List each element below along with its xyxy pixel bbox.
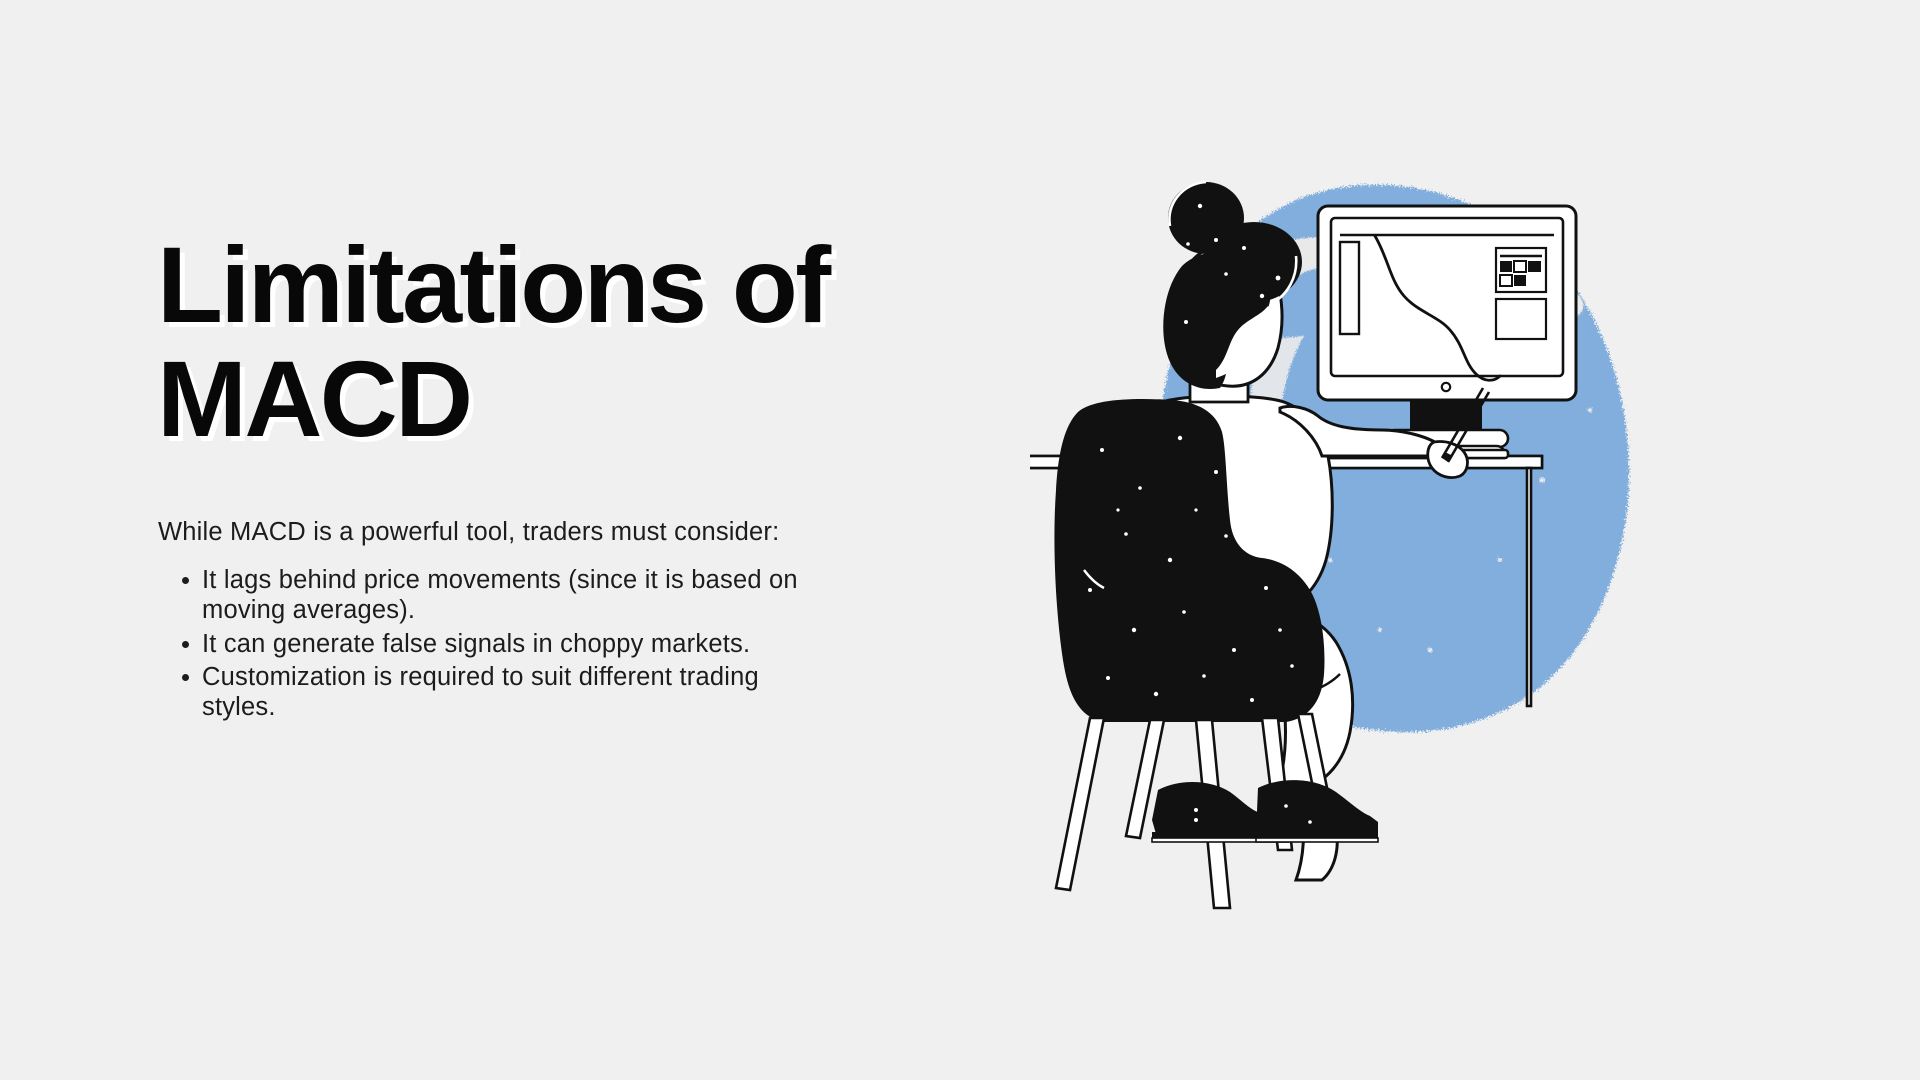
page-title: Limitations of MACD (157, 228, 857, 457)
list-item-label: Customization is required to suit differ… (202, 663, 824, 723)
illustration-svg (1030, 90, 1730, 920)
bullet-dot-icon (182, 674, 189, 681)
list-item: It can generate false signals in choppy … (157, 630, 857, 660)
list-item-label: It can generate false signals in choppy … (202, 630, 824, 660)
illustration (1030, 90, 1730, 920)
bullet-dot-icon (182, 641, 189, 648)
shoes (1152, 780, 1378, 842)
text-column: Limitations of MACD While MACD is a powe… (157, 228, 987, 457)
list-item-label: It lags behind price movements (since it… (202, 566, 824, 626)
list-item: It lags behind price movements (since it… (157, 566, 857, 626)
bullet-dot-icon (182, 577, 189, 584)
intro-paragraph: While MACD is a powerful tool, traders m… (158, 515, 779, 549)
list-item: Customization is required to suit differ… (157, 663, 857, 723)
slide-canvas: Limitations of MACD While MACD is a powe… (0, 0, 1920, 1080)
limitations-list: It lags behind price movements (since it… (157, 566, 857, 727)
